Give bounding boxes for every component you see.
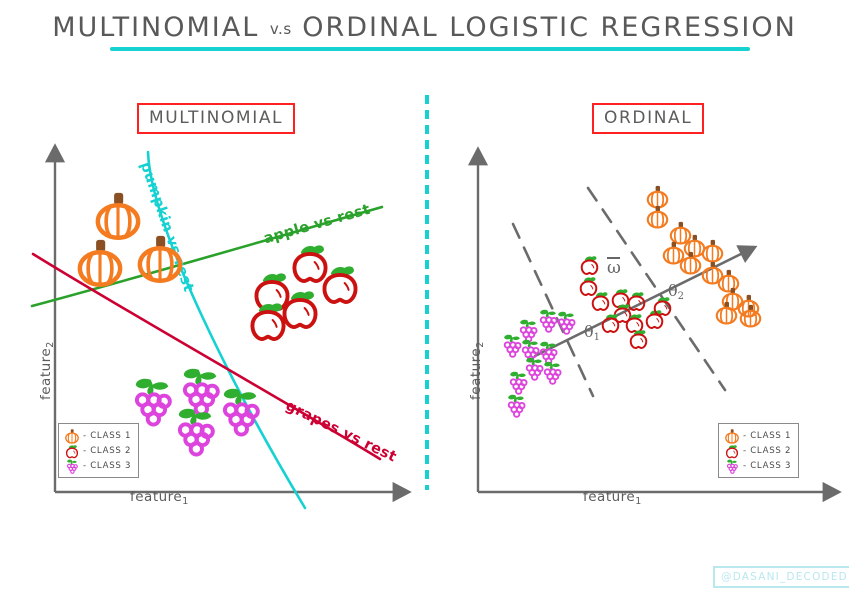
grapes-icon (724, 458, 741, 473)
apple-icon (724, 443, 741, 458)
apple-icon (599, 311, 622, 338)
grapes-icon (539, 359, 565, 389)
infographic-canvas: MULTINOMIAL v.s ORDINAL LOGISTIC REGRESS… (0, 0, 849, 600)
watermark: @DASANI_DECODED (713, 566, 849, 588)
pumpkin-icon (724, 428, 741, 443)
pumpkin-icon (714, 300, 739, 329)
apple-icon (651, 294, 674, 321)
legend-item: - CLASS 1 (724, 428, 791, 443)
grapes-icon (503, 392, 529, 422)
legend-item-label: - CLASS 2 (743, 446, 791, 456)
legend-item-label: - CLASS 1 (743, 431, 791, 441)
legend-ordinal: - CLASS 1 - CLASS 2 - CLASS 3 (718, 423, 799, 478)
apple-icon (627, 327, 650, 354)
pumpkin-icon (645, 204, 670, 233)
grapes-icon (553, 309, 579, 339)
legend-item: - CLASS 2 (724, 443, 791, 458)
pumpkin-icon (738, 303, 763, 332)
legend-item: - CLASS 3 (724, 458, 791, 473)
legend-item-label: - CLASS 3 (743, 461, 791, 471)
